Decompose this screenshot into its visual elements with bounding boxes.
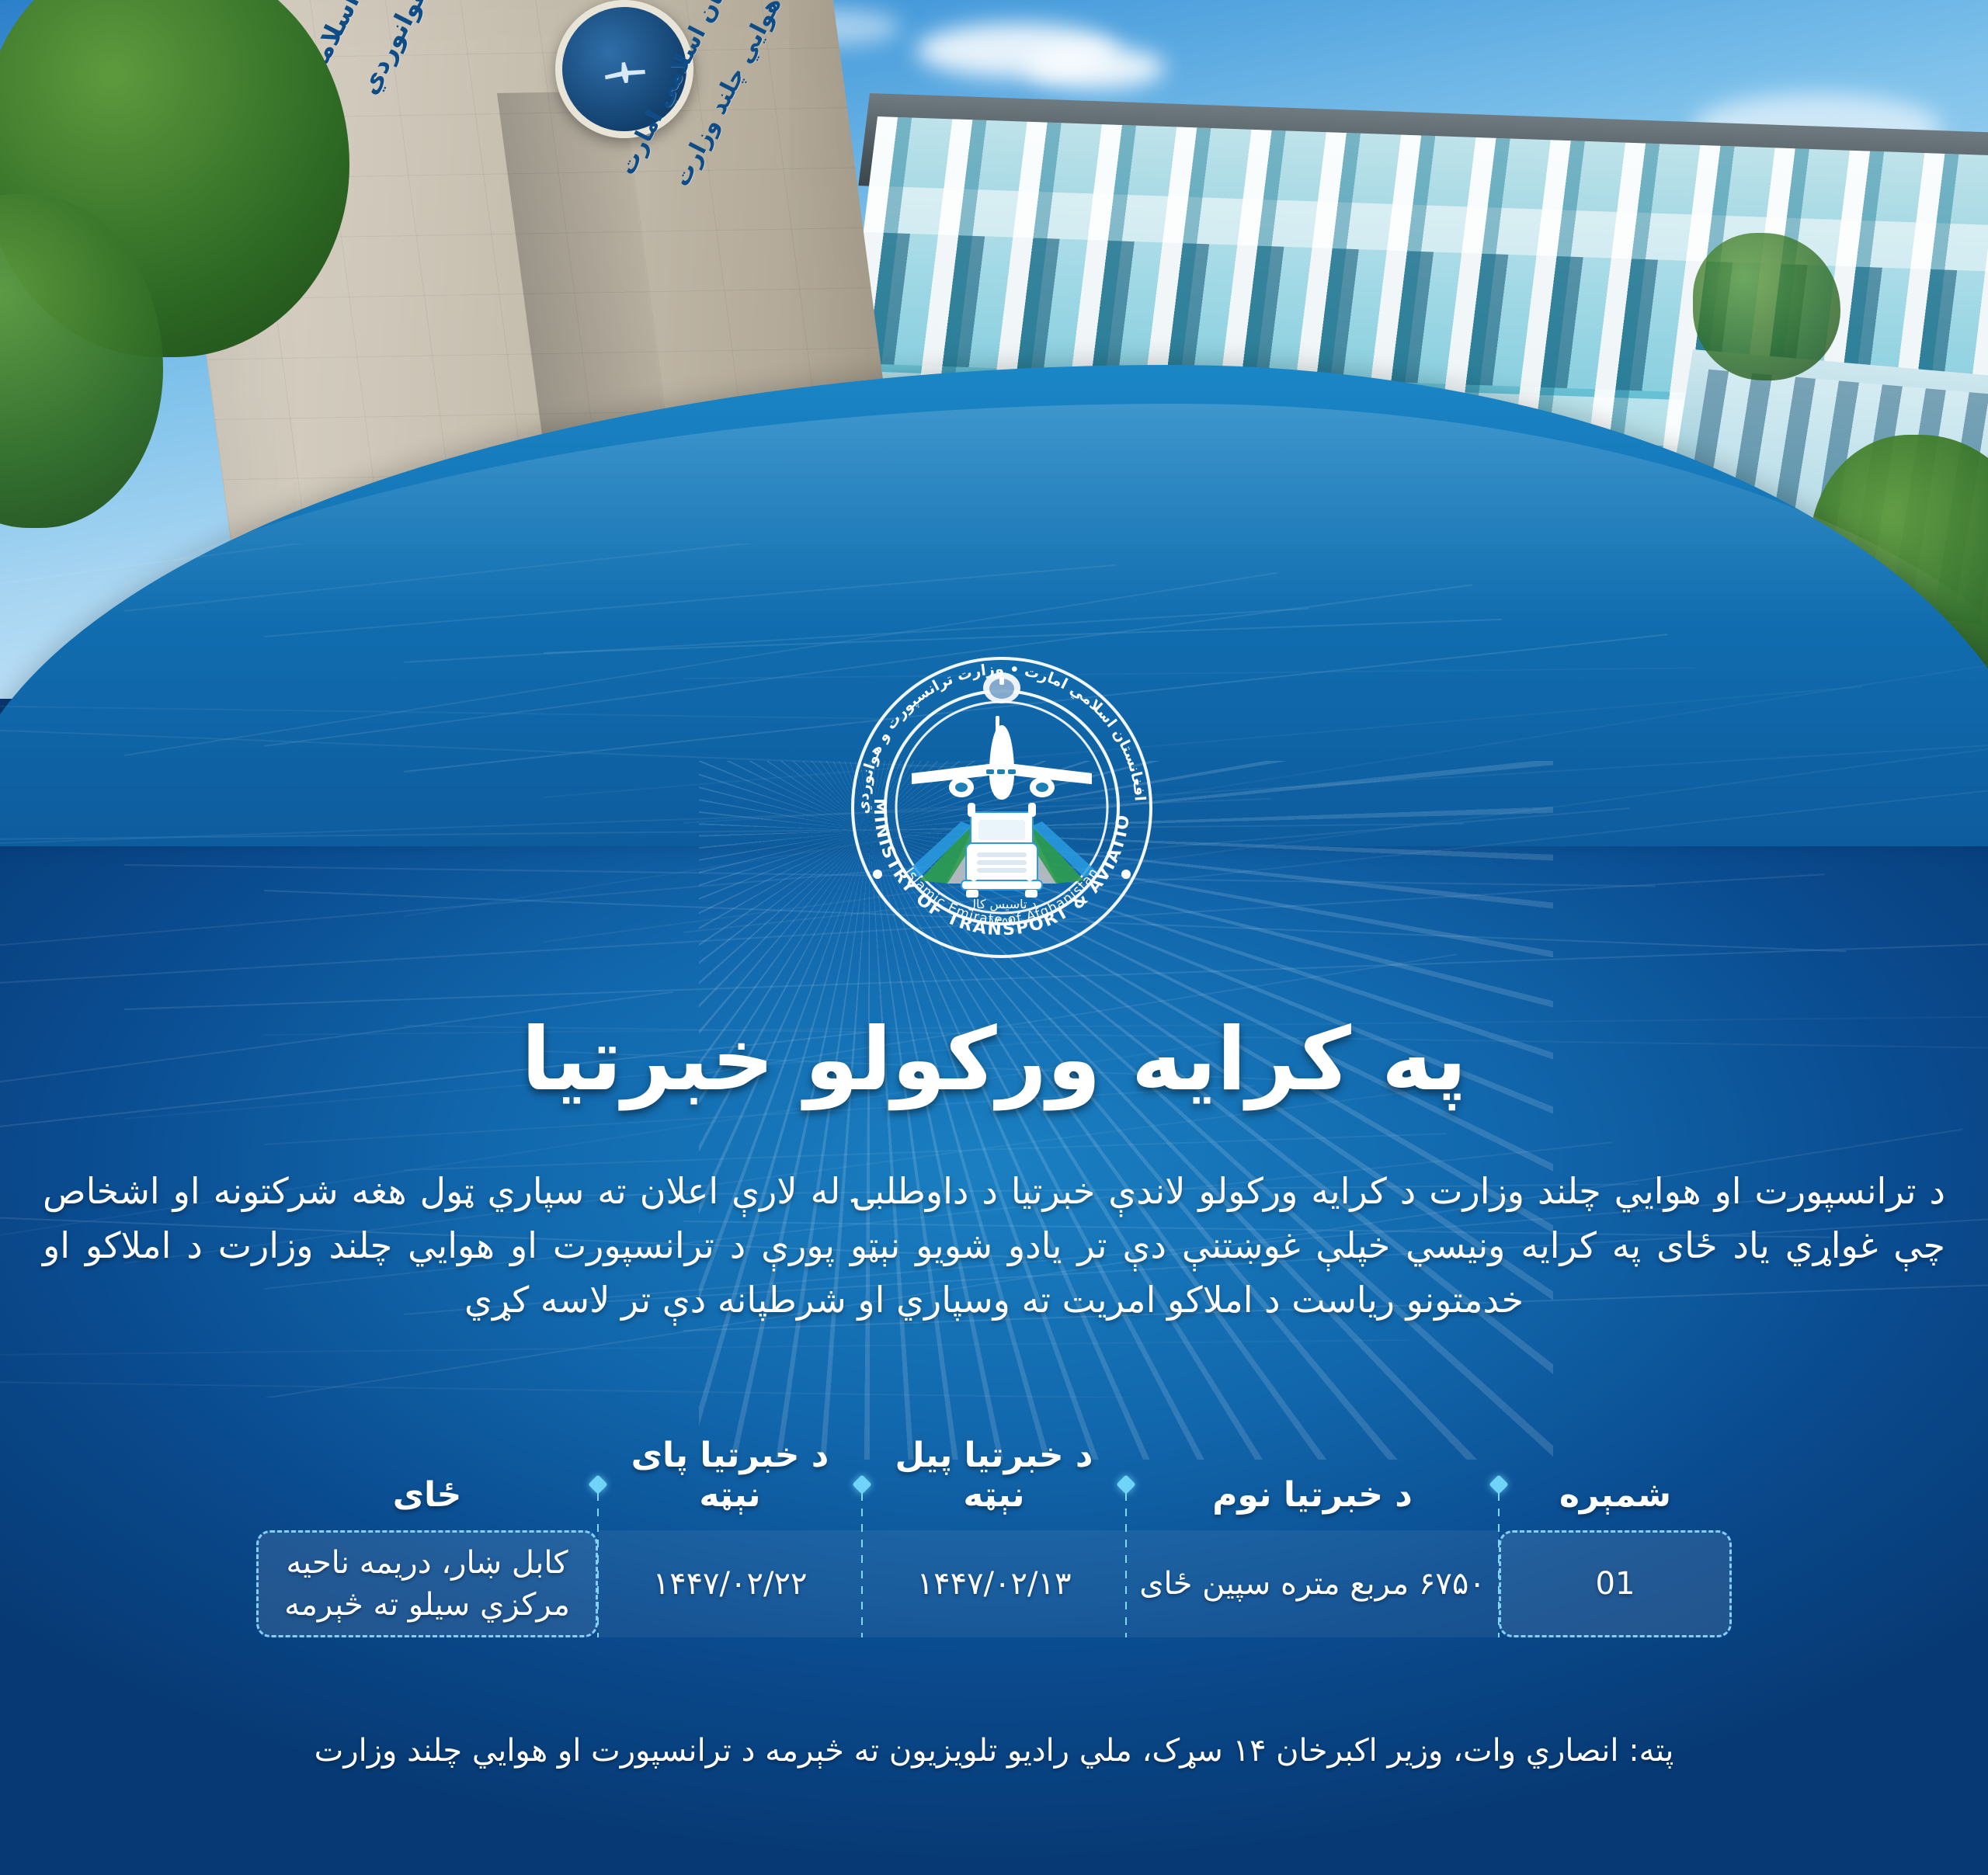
background-streak — [0, 1339, 1409, 1357]
ministry-of-transport-and-aviation-logo: د تاسیس کال ۱۳۵۸ MINISTRY OF TRANSPORT &… — [845, 651, 1159, 964]
background-streak — [124, 543, 923, 612]
table-header-name: د خبرتیا نوم — [1126, 1475, 1499, 1519]
background-streak — [0, 543, 729, 586]
cell-name: ۶۷۵۰ مربع متره سپین ځای — [1126, 1530, 1499, 1637]
table-header-no: شمېره — [1499, 1475, 1732, 1519]
background-streak — [0, 823, 1464, 840]
footer-address: پته: انصاري وات، وزیر اکبرخان ۱۴ سړک، مل… — [0, 1733, 1988, 1769]
table-header-row: شمېره د خبرتیا نوم د خبرتیا پیل نېټه د خ… — [256, 1448, 1732, 1519]
table-header-start-date: د خبرتیا پیل نېټه — [862, 1436, 1126, 1519]
table-header-place: ځای — [256, 1475, 598, 1519]
announcement-body-text: د ترانسپورت او هوایي چلند وزارت د کرایه … — [43, 1165, 1945, 1328]
cell-place: کابل ښار، دریمه ناحیه مرکزي سیلو ته څېرم… — [256, 1530, 598, 1637]
announcement-poster: امارت اسلامي وزارت ترانسپورت و هوانوردي … — [0, 0, 1988, 1875]
cloud — [1025, 47, 1165, 89]
background-streak — [0, 1381, 1600, 1398]
background-streak — [544, 686, 1862, 798]
cell-end-date: ۱۴۴۷/۰۲/۲۲ — [598, 1530, 862, 1637]
table-header-end-date: د خبرتیا پای نېټه — [598, 1436, 862, 1519]
cell-start-date: ۱۴۴۷/۰۲/۱۳ — [862, 1530, 1126, 1637]
announcement-table: شمېره د خبرتیا نوم د خبرتیا پیل نېټه د خ… — [256, 1448, 1732, 1637]
page-title: په کرایه ورکولو خبرتیا — [0, 1009, 1988, 1110]
table-row: 01 ۶۷۵۰ مربع متره سپین ځای ۱۴۴۷/۰۲/۱۳ ۱۴… — [256, 1530, 1732, 1637]
background-streak — [0, 703, 908, 720]
cell-no: 01 — [1499, 1530, 1732, 1637]
